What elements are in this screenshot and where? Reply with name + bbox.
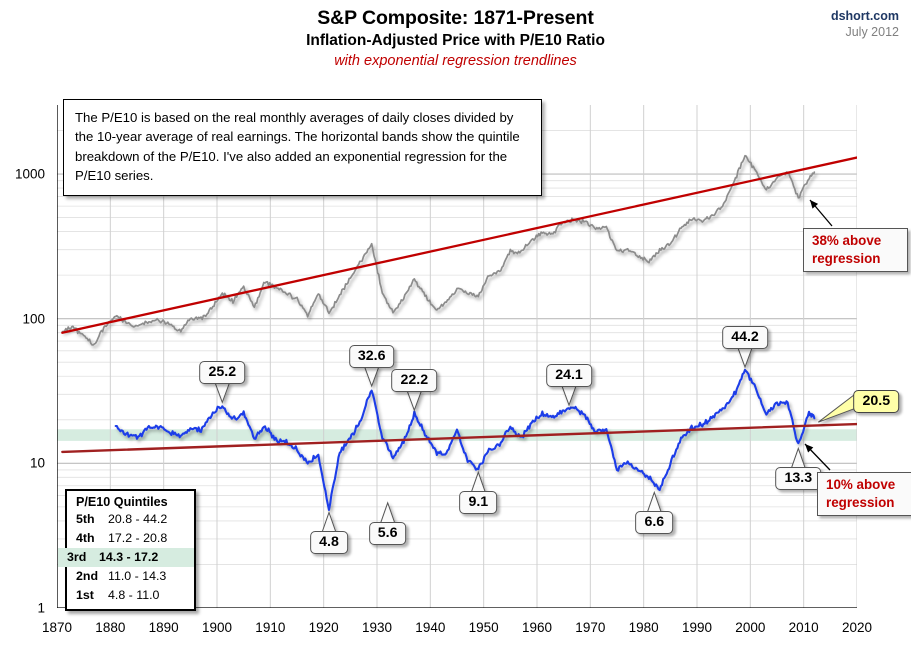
callout-pointer	[818, 395, 854, 423]
x-axis-tick-label: 1920	[309, 620, 339, 635]
x-axis-tick-label: 1970	[575, 620, 605, 635]
y-axis-tick-label: 100	[22, 311, 45, 326]
price-regression-annotation: 38% above regression	[803, 228, 908, 272]
quintile-legend: P/E10 Quintiles 5th20.8 - 44.24th17.2 - …	[65, 489, 196, 611]
pe10-regression-line2: regression	[826, 494, 910, 512]
quintile-rank-label: 5th	[76, 510, 108, 529]
x-axis-tick-label: 1980	[629, 620, 659, 635]
value-callout: 6.6	[635, 511, 673, 534]
chart-subtitle-secondary: with exponential regression trendlines	[0, 51, 911, 72]
quintile-rank-label: 1st	[76, 586, 108, 605]
y-axis-tick-label: 1000	[15, 167, 45, 182]
quintile-range-value: 4.8 - 11.0	[108, 586, 159, 605]
value-callout: 9.1	[459, 491, 497, 514]
chart-subtitle: Inflation-Adjusted Price with P/E10 Rati…	[0, 30, 911, 51]
credit-site: dshort.com	[831, 8, 899, 24]
value-callout: 32.6	[349, 345, 395, 368]
quintile-range-value: 20.8 - 44.2	[108, 510, 167, 529]
x-axis-tick-label: 1990	[682, 620, 712, 635]
x-axis-tick-label: 1890	[149, 620, 179, 635]
x-axis-tick-label: 1930	[362, 620, 392, 635]
quintile-legend-rows: 5th20.8 - 44.24th17.2 - 20.83rd14.3 - 17…	[67, 510, 194, 605]
quintile-legend-row: 1st4.8 - 11.0	[67, 586, 194, 605]
x-axis-tick-label: 2020	[842, 620, 872, 635]
quintile-range-value: 11.0 - 14.3	[108, 567, 166, 586]
x-axis-tick-label: 1940	[415, 620, 445, 635]
explanatory-note: The P/E10 is based on the real monthly a…	[63, 99, 542, 196]
quintile-rank-label: 2nd	[76, 567, 108, 586]
x-axis-tick-label: 2000	[735, 620, 765, 635]
value-callout: 20.5	[854, 390, 900, 413]
x-axis-tick-label: 1870	[42, 620, 72, 635]
quintile-legend-row: 4th17.2 - 20.8	[67, 529, 194, 548]
quintile-legend-row: 3rd14.3 - 17.2	[58, 548, 194, 567]
quintile-legend-title: P/E10 Quintiles	[67, 495, 194, 510]
value-callout: 22.2	[392, 369, 438, 392]
x-axis-tick-label: 2010	[789, 620, 819, 635]
x-axis-tick-label: 1950	[469, 620, 499, 635]
y-axis-tick-label: 1	[37, 601, 45, 616]
x-axis-tick-label: 1900	[202, 620, 232, 635]
quintile-range-value: 14.3 - 17.2	[99, 548, 158, 567]
annotation-arrow	[805, 444, 830, 470]
quintile-rank-label: 3rd	[67, 548, 99, 567]
quintile-rank-label: 4th	[76, 529, 108, 548]
callout-pointer	[562, 386, 576, 405]
callout-pointer	[407, 391, 421, 410]
value-callout: 25.2	[200, 361, 246, 384]
chart-title-block: S&P Composite: 1871-Present Inflation-Ad…	[0, 6, 911, 72]
credit-date: July 2012	[831, 24, 899, 40]
y-axis-tick-label: 10	[30, 456, 45, 471]
x-axis-tick-label: 1960	[522, 620, 552, 635]
value-callout: 13.3	[776, 467, 822, 490]
credit-block: dshort.com July 2012	[831, 8, 899, 40]
pe10-regression-line1: 10% above	[826, 476, 910, 494]
x-axis-tick-label: 1880	[95, 620, 125, 635]
value-callout: 24.1	[546, 364, 592, 387]
quintile-legend-row: 5th20.8 - 44.2	[67, 510, 194, 529]
callout-pointer	[381, 503, 395, 523]
annotation-arrow	[810, 200, 832, 226]
pe10-regression-annotation: 10% above regression	[817, 472, 911, 516]
quintile-legend-row: 2nd11.0 - 14.3	[67, 567, 194, 586]
price-regression-line2: regression	[812, 250, 900, 268]
value-callout: 5.6	[369, 522, 407, 545]
value-callout: 44.2	[722, 326, 768, 349]
quintile-range-value: 17.2 - 20.8	[108, 529, 167, 548]
price-regression-line1: 38% above	[812, 232, 900, 250]
page-title: S&P Composite: 1871-Present	[0, 6, 911, 30]
x-axis-tick-label: 1910	[255, 620, 285, 635]
chart-trendlines	[62, 158, 857, 452]
value-callout: 4.8	[310, 531, 348, 554]
